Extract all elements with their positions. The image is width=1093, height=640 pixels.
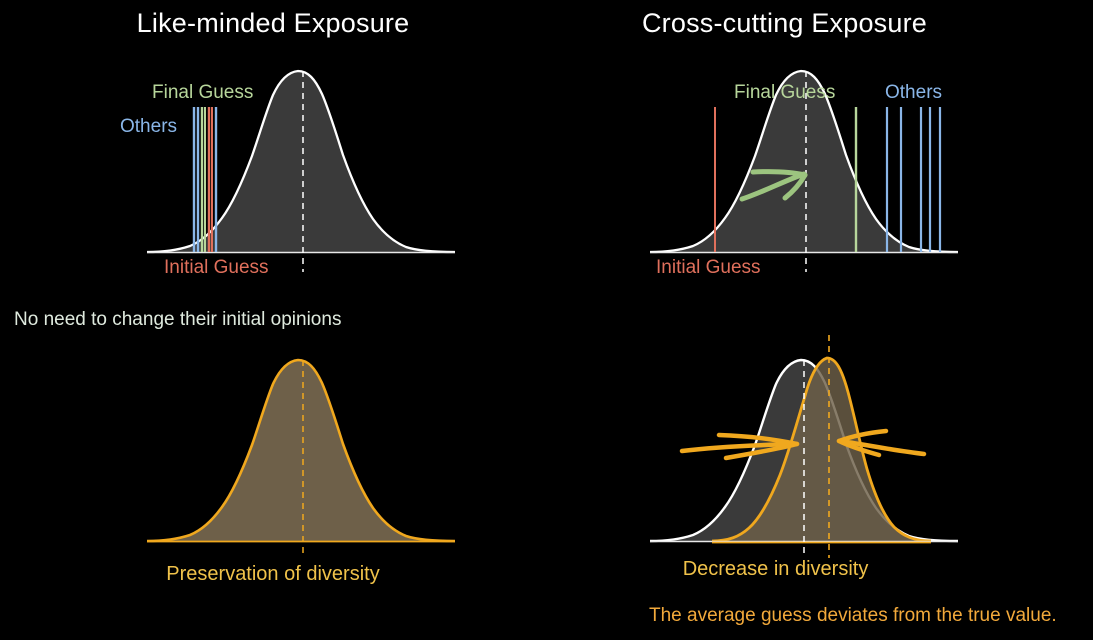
caption-decrease-in-diversity: Decrease in diversity	[502, 558, 1049, 581]
caption-preservation-of-diversity: Preservation of diversity	[0, 563, 546, 586]
slide-canvas: Like-minded Exposure Final Guess Others …	[0, 0, 1093, 640]
label-initial-guess: Initial Guess	[656, 257, 761, 279]
chart-bottom-right	[546, 300, 1093, 640]
distribution-curve-fill	[147, 360, 455, 541]
label-final-guess: Final Guess	[734, 82, 835, 104]
label-others: Others	[120, 116, 177, 138]
chart-top-left	[0, 0, 546, 300]
chart-bottom-left	[0, 300, 546, 640]
label-others: Others	[885, 82, 942, 104]
panel-top-right: Cross-cutting Exposure Final Gu	[546, 0, 1093, 300]
chart-top-right	[546, 0, 1093, 300]
label-initial-guess: Initial Guess	[164, 257, 269, 279]
panel-bottom-right: Decrease in diversity The average guess …	[546, 300, 1093, 640]
panel-bottom-left: No need to change their initial opinions…	[0, 300, 546, 640]
footer-average-guess-deviates: The average guess deviates from the true…	[649, 605, 1057, 627]
label-final-guess: Final Guess	[152, 82, 253, 104]
panel-top-left: Like-minded Exposure Final Guess Others …	[0, 0, 546, 300]
guess-marker-lines	[194, 107, 216, 252]
